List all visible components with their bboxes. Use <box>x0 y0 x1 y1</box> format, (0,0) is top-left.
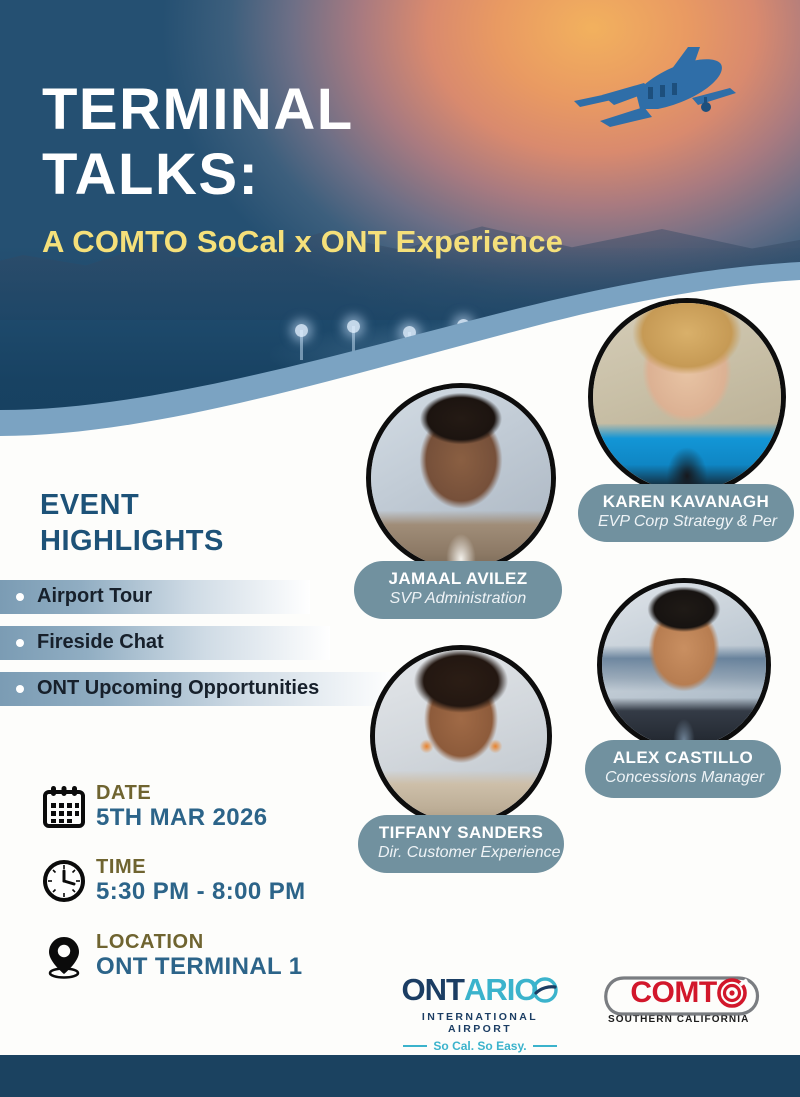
speaker-role: EVP Corp Strategy & Per <box>598 512 774 532</box>
detail-text: DATE 5TH MAR 2026 <box>92 782 268 832</box>
footer-bar <box>0 1055 800 1097</box>
event-details-section: DATE 5TH MAR 2026 TI <box>36 782 376 1005</box>
detail-value: 5TH MAR 2026 <box>96 804 268 832</box>
detail-row-time: TIME 5:30 PM - 8:00 PM <box>36 856 376 906</box>
highlight-label: Airport Tour <box>37 585 152 608</box>
highlight-label: Fireside Chat <box>37 631 164 654</box>
ontario-airport-logo: ONT ARIO INTERNATIONAL AIRPORT So Cal. S… <box>390 972 570 1053</box>
logo-row: ONT ARIO INTERNATIONAL AIRPORT So Cal. S… <box>390 968 770 1052</box>
speaker-portrait <box>370 645 552 827</box>
speaker-name: ALEX CASTILLO <box>605 748 761 768</box>
ontario-logo-subtitle: INTERNATIONAL AIRPORT <box>390 1011 570 1035</box>
hero-text-block: TERMINAL TALKS: A COMTO SoCal x ONT Expe… <box>42 78 742 260</box>
location-pin-icon <box>36 933 92 979</box>
speaker-name-plate: JAMAAL AVILEZ SVP Administration <box>354 561 562 619</box>
bullet-icon <box>16 639 24 647</box>
highlight-item: Fireside Chat <box>0 626 330 660</box>
speaker-karen-kavanagh: KAREN KAVANAGH EVP Corp Strategy & Per <box>588 298 786 496</box>
speaker-name-plate: KAREN KAVANAGH EVP Corp Strategy & Per <box>578 484 794 542</box>
detail-label: TIME <box>96 856 306 878</box>
speaker-role: SVP Administration <box>374 589 542 609</box>
highlights-heading: EVENT HIGHLIGHTS <box>40 487 420 560</box>
detail-row-location: LOCATION ONT TERMINAL 1 <box>36 931 376 981</box>
speaker-tiffany-sanders: TIFFANY SANDERS Dir. Customer Experience <box>370 645 552 827</box>
title-line-2: TALKS: <box>42 143 742 208</box>
hero-subtitle: A COMTO SoCal x ONT Experience <box>42 224 742 260</box>
speaker-name: JAMAAL AVILEZ <box>374 569 542 589</box>
event-flyer: TERMINAL TALKS: A COMTO SoCal x ONT Expe… <box>0 0 800 1097</box>
ontario-swoosh-icon <box>532 977 558 1003</box>
highlights-heading-line-2: HIGHLIGHTS <box>40 523 420 559</box>
speaker-name: TIFFANY SANDERS <box>378 823 544 843</box>
speaker-portrait <box>588 298 786 496</box>
speaker-name-plate: TIFFANY SANDERS Dir. Customer Experience <box>358 815 564 873</box>
detail-row-date: DATE 5TH MAR 2026 <box>36 782 376 832</box>
speaker-portrait <box>366 383 556 573</box>
bullet-icon <box>16 685 24 693</box>
tagline-rule-left <box>403 1045 427 1047</box>
speaker-alex-castillo: ALEX CASTILLO Concessions Manager <box>597 578 771 752</box>
calendar-icon <box>36 784 92 830</box>
highlight-item: Airport Tour <box>0 580 310 614</box>
comto-logo-word: COMT <box>622 976 716 1010</box>
ontario-tagline-row: So Cal. So Easy. <box>390 1039 570 1053</box>
ontario-logo-word-dark: ONT <box>402 972 464 1008</box>
speaker-name: KAREN KAVANAGH <box>598 492 774 512</box>
ontario-logo-word-light: ARIO <box>464 972 538 1008</box>
comto-logo: COMT SOUTHERN CALIFORNIA <box>598 976 773 1025</box>
detail-text: LOCATION ONT TERMINAL 1 <box>92 931 303 981</box>
tagline-rule-right <box>533 1045 557 1047</box>
highlight-label: ONT Upcoming Opportunities <box>37 677 319 700</box>
comto-spiral-icon <box>715 976 749 1010</box>
highlights-heading-line-1: EVENT <box>40 487 420 523</box>
speaker-role: Dir. Customer Experience <box>378 843 544 863</box>
title-line-1: TERMINAL <box>42 78 742 143</box>
speaker-role: Concessions Manager <box>605 768 761 788</box>
speaker-name-plate: ALEX CASTILLO Concessions Manager <box>585 740 781 798</box>
ontario-logo-tagline: So Cal. So Easy. <box>433 1039 526 1053</box>
bullet-icon <box>16 593 24 601</box>
speaker-jamaal-avilez: JAMAAL AVILEZ SVP Administration <box>366 383 556 573</box>
detail-value: 5:30 PM - 8:00 PM <box>96 878 306 906</box>
highlight-item: ONT Upcoming Opportunities <box>0 672 396 706</box>
detail-value: ONT TERMINAL 1 <box>96 953 303 981</box>
detail-label: LOCATION <box>96 931 303 953</box>
detail-text: TIME 5:30 PM - 8:00 PM <box>92 856 306 906</box>
detail-label: DATE <box>96 782 268 804</box>
speaker-portrait <box>597 578 771 752</box>
clock-icon <box>36 858 92 904</box>
